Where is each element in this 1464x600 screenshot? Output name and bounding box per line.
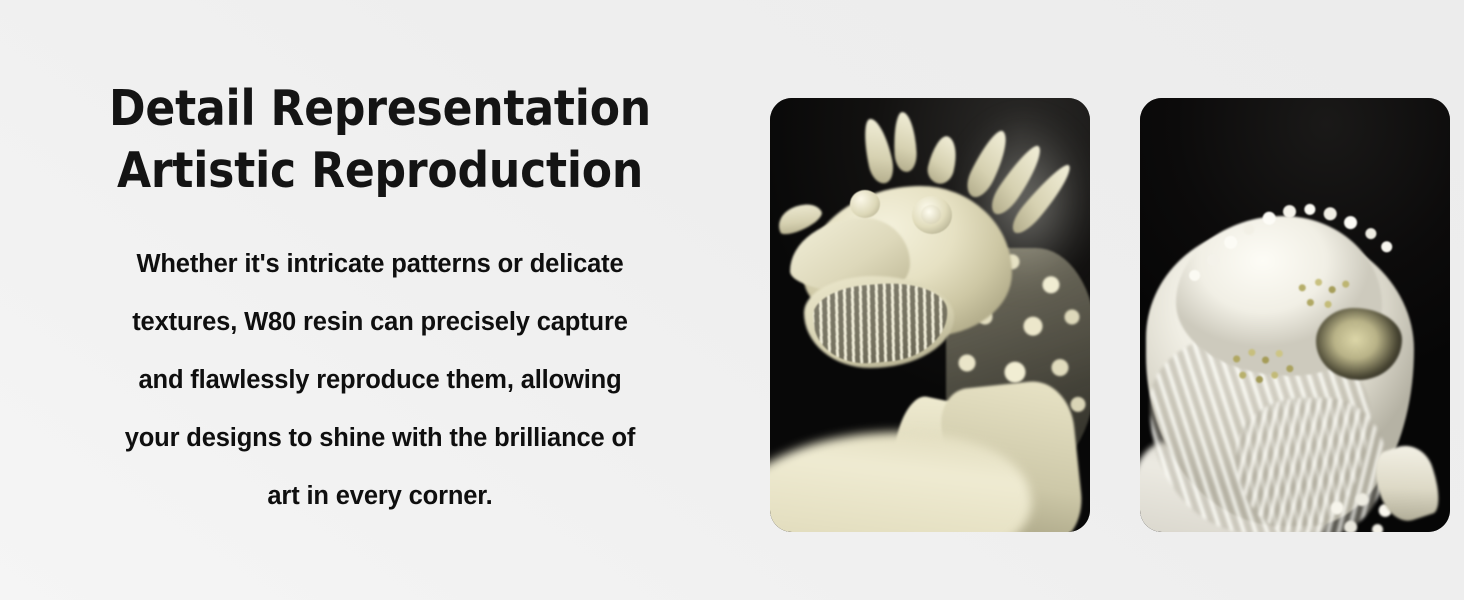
lion-pierced-detail-b bbox=[1290, 274, 1358, 320]
text-column: Detail Representation Artistic Reproduct… bbox=[78, 78, 682, 525]
body-line-1: Whether it's intricate patterns or delic… bbox=[78, 235, 682, 293]
product-photo-lion-sculpture bbox=[1140, 98, 1450, 532]
body-paragraph: Whether it's intricate patterns or delic… bbox=[78, 235, 682, 525]
product-photo-dragon-head bbox=[770, 98, 1090, 532]
dragon-eye-left bbox=[850, 190, 880, 218]
body-line-5: art in every corner. bbox=[78, 467, 682, 525]
body-line-2: textures, W80 resin can precisely captur… bbox=[78, 293, 682, 351]
product-feature-banner: Detail Representation Artistic Reproduct… bbox=[0, 0, 1464, 600]
headline-line-2: Artistic Reproduction bbox=[78, 140, 682, 202]
dragon-head-scene bbox=[770, 98, 1090, 532]
lion-pierced-detail-a bbox=[1226, 346, 1302, 400]
dragon-eye-right bbox=[912, 196, 952, 234]
lion-sculpture-scene bbox=[1140, 98, 1450, 532]
body-line-4: your designs to shine with the brillianc… bbox=[78, 409, 682, 467]
page-title: Detail Representation Artistic Reproduct… bbox=[78, 78, 682, 201]
body-line-3: and flawlessly reproduce them, allowing bbox=[78, 351, 682, 409]
lion-crown-knobs bbox=[1172, 194, 1398, 304]
headline-line-1: Detail Representation bbox=[78, 78, 682, 140]
